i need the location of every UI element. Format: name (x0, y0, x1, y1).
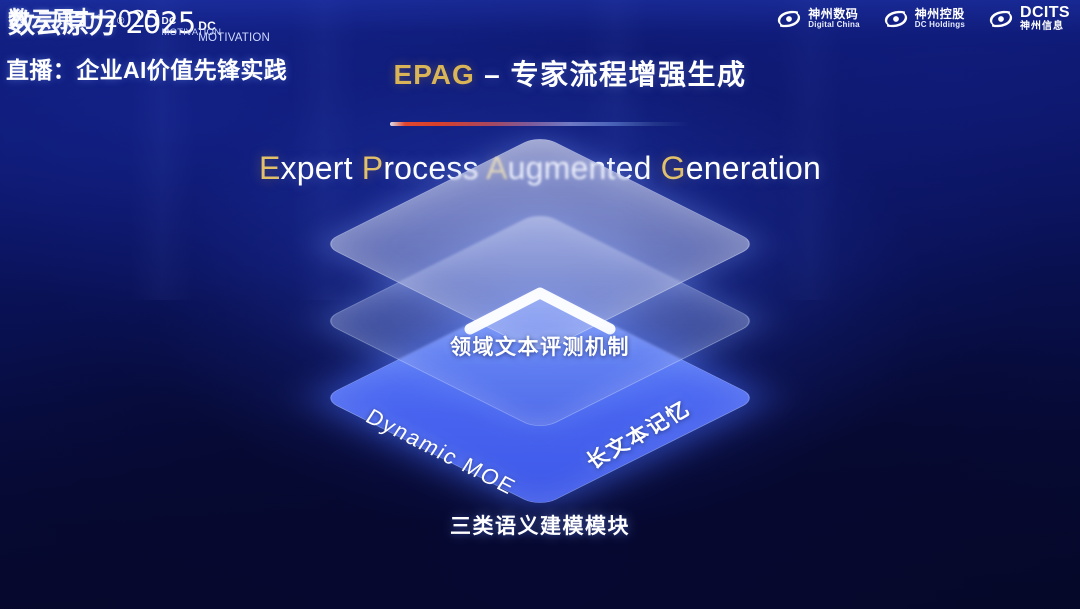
registered-mark: ® (97, 13, 103, 22)
brand-motivation: MOTIVATION (161, 28, 221, 38)
brand-dc-motivation: DC MOTIVATION (161, 17, 221, 38)
brand-name-cn: 数云原力 (8, 2, 96, 34)
brand-year: 2025 (104, 7, 159, 33)
presentation-slide: 数云原力 ® 2025 DC MOTIVATION 直播：企业AI价值先锋实践 … (0, 0, 1080, 609)
brand-dc: DC (161, 17, 221, 27)
event-logo-bottom-right: 数云原力 ® 2025 DC MOTIVATION (8, 2, 1068, 604)
